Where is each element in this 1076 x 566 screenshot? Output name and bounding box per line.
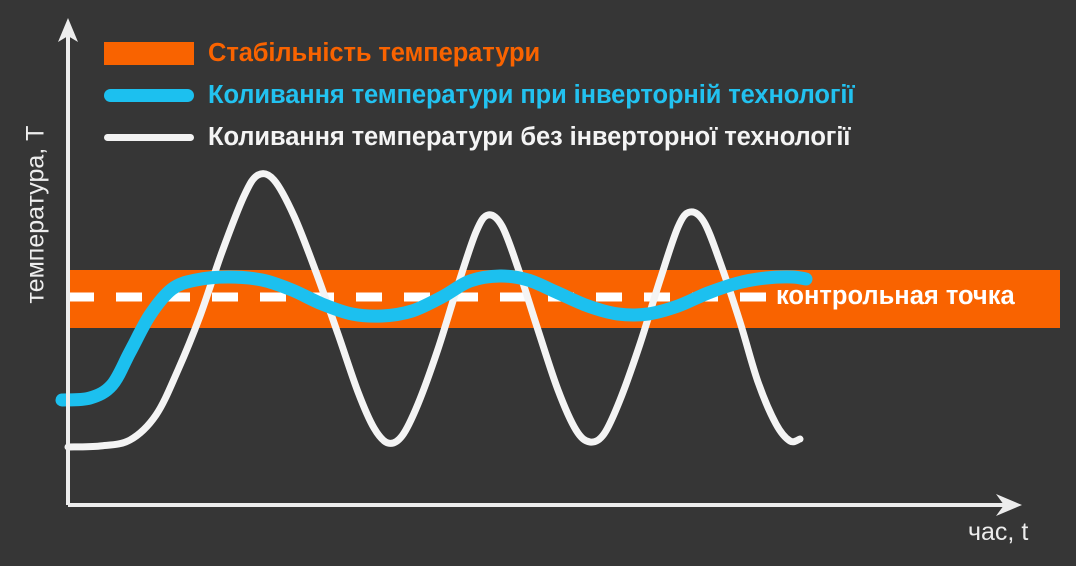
legend-label-stability: Стабільність температури xyxy=(208,39,540,68)
legend-swatch-band-icon xyxy=(104,42,208,65)
y-axis-label: температура, Т xyxy=(22,95,51,335)
x-axis-label: час, t xyxy=(968,518,1028,547)
legend-label-inverter: Коливання температури при інверторній те… xyxy=(208,81,854,110)
chart-legend: Стабільність температури Коливання темпе… xyxy=(104,32,1064,158)
legend-item-stability: Стабільність температури xyxy=(104,32,1064,74)
legend-item-no-inverter: Коливання температури без інверторної те… xyxy=(104,116,1064,158)
legend-item-inverter: Коливання температури при інверторній те… xyxy=(104,74,1064,116)
legend-label-no-inverter: Коливання температури без інверторної те… xyxy=(208,123,850,152)
legend-swatch-cyan-line-icon xyxy=(104,89,208,102)
setpoint-annotation-label: контрольная точка xyxy=(776,282,1015,311)
temperature-stability-chart: Стабільність температури Коливання темпе… xyxy=(0,0,1076,566)
legend-swatch-white-line-icon xyxy=(104,134,208,141)
